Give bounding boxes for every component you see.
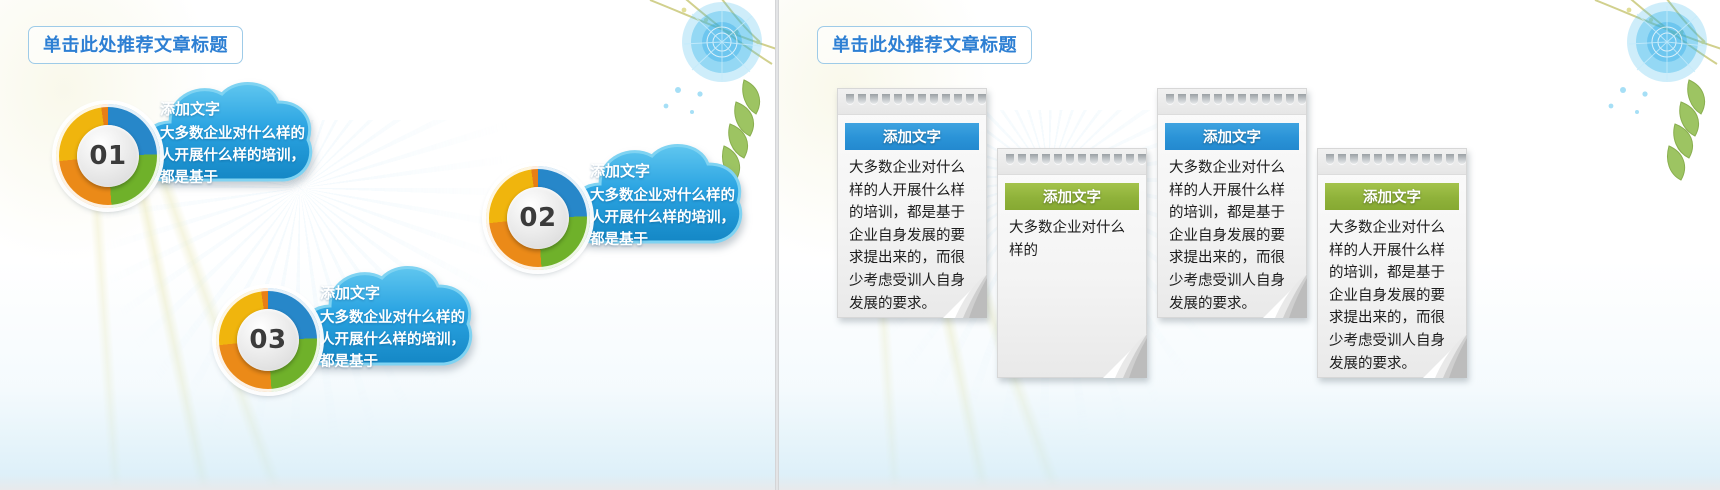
slide-notepad: 单击此处推荐文章标题 添加文字 大多数企业对什么样的人开展什么样的培训，都是基于…	[779, 0, 1720, 490]
spiral-hole-icon	[1178, 94, 1186, 105]
number-badge-03: 03	[216, 288, 320, 392]
spiral-hole-icon	[894, 94, 902, 105]
spiral-binding-4	[1318, 149, 1466, 175]
notepad-card-1[interactable]: 添加文字 大多数企业对什么样的人开展什么样的培训，都是基于企业自身发展的要求提出…	[837, 88, 987, 318]
spiral-hole-icon	[1422, 154, 1430, 165]
spiral-hole-icon	[978, 94, 986, 105]
number-badge-value-02: 02	[507, 187, 569, 249]
spiral-hole-icon	[1066, 154, 1074, 165]
spiral-hole-icon	[906, 94, 914, 105]
spiral-hole-icon	[1226, 94, 1234, 105]
spiral-hole-icon	[1214, 94, 1222, 105]
slide-cloud: 单击此处推荐文章标题 添加文字 大多数企业对什么样的人开展什	[0, 0, 775, 490]
bottom-edge-band-right	[779, 474, 1720, 490]
spiral-hole-icon	[882, 94, 890, 105]
spiral-hole-icon	[1286, 94, 1294, 105]
notepad-body-1: 大多数企业对什么样的人开展什么样的培训，都是基于企业自身发展的要求提出来的，而很…	[838, 150, 986, 325]
slide-title-notepad: 单击此处推荐文章标题	[817, 26, 1032, 64]
spiral-hole-icon	[918, 94, 926, 105]
cloud-heading-02: 添加文字	[590, 160, 740, 181]
cloud-text-01: 添加文字 大多数企业对什么样的人开展什么样的培训，都是基于	[160, 98, 310, 189]
number-badge-01: 01	[56, 104, 160, 208]
cloud-heading-01: 添加文字	[160, 98, 310, 119]
number-badge-value-03: 03	[237, 309, 299, 371]
spiral-hole-icon	[1102, 154, 1110, 165]
spiral-binding-3	[1158, 89, 1306, 115]
notepad-card-3[interactable]: 添加文字 大多数企业对什么样的人开展什么样的培训，都是基于企业自身发展的要求提出…	[1157, 88, 1307, 318]
spiral-hole-icon	[1274, 94, 1282, 105]
cloud-heading-03: 添加文字	[320, 282, 470, 303]
cloud-text-03: 添加文字 大多数企业对什么样的人开展什么样的培训，都是基于	[320, 282, 470, 373]
page-curl-icon-2	[1103, 334, 1147, 378]
spiral-hole-icon	[1326, 154, 1334, 165]
spiral-hole-icon	[1090, 154, 1098, 165]
spiral-hole-icon	[1166, 94, 1174, 105]
spiral-hole-icon	[870, 94, 878, 105]
cloud-body-03: 大多数企业对什么样的人开展什么样的培训，都是基于	[320, 307, 470, 373]
spiral-hole-icon	[1410, 154, 1418, 165]
spiral-hole-icon	[1386, 154, 1394, 165]
notepad-heading-3: 添加文字	[1165, 123, 1299, 150]
notepad-body-2: 大多数企业对什么样的	[998, 210, 1146, 272]
spiral-hole-icon	[1446, 154, 1454, 165]
spiral-hole-icon	[1190, 94, 1198, 105]
spiral-binding-1	[838, 89, 986, 115]
spiral-hole-icon	[1458, 154, 1466, 165]
spiral-hole-icon	[1398, 154, 1406, 165]
spiral-hole-icon	[1250, 94, 1258, 105]
dandelion-flower-icon-right	[1585, 0, 1720, 194]
spiral-hole-icon	[1006, 154, 1014, 165]
spiral-hole-icon	[1018, 154, 1026, 165]
spiral-hole-icon	[1202, 94, 1210, 105]
notepad-paper-2: 添加文字 大多数企业对什么样的	[997, 148, 1147, 378]
spiral-hole-icon	[1350, 154, 1358, 165]
notepad-card-4[interactable]: 添加文字 大多数企业对什么样的人开展什么样的培训，都是基于企业自身发展的要求提出…	[1317, 148, 1467, 378]
spiral-hole-icon	[1078, 154, 1086, 165]
bottom-edge-band	[0, 474, 775, 490]
spiral-hole-icon	[1126, 154, 1134, 165]
spiral-hole-icon	[1114, 154, 1122, 165]
notepad-paper-3: 添加文字 大多数企业对什么样的人开展什么样的培训，都是基于企业自身发展的要求提出…	[1157, 88, 1307, 318]
spiral-hole-icon	[1238, 94, 1246, 105]
notepad-body-4: 大多数企业对什么样的人开展什么样的培训，都是基于企业自身发展的要求提出来的，而很…	[1318, 210, 1466, 385]
spiral-hole-icon	[954, 94, 962, 105]
spiral-hole-icon	[1030, 154, 1038, 165]
notepad-paper-4: 添加文字 大多数企业对什么样的人开展什么样的培训，都是基于企业自身发展的要求提出…	[1317, 148, 1467, 378]
spiral-binding-2	[998, 149, 1146, 175]
number-badge-02: 02	[486, 166, 590, 270]
spiral-hole-icon	[1054, 154, 1062, 165]
cloud-body-01: 大多数企业对什么样的人开展什么样的培训，都是基于	[160, 123, 310, 189]
spiral-hole-icon	[1298, 94, 1306, 105]
spiral-hole-icon	[1338, 154, 1346, 165]
notepad-card-2[interactable]: 添加文字 大多数企业对什么样的	[997, 148, 1147, 378]
notepad-heading-4: 添加文字	[1325, 183, 1459, 210]
spiral-hole-icon	[1138, 154, 1146, 165]
spiral-hole-icon	[1374, 154, 1382, 165]
spiral-hole-icon	[966, 94, 974, 105]
notepad-paper-1: 添加文字 大多数企业对什么样的人开展什么样的培训，都是基于企业自身发展的要求提出…	[837, 88, 987, 318]
number-badge-value-01: 01	[77, 125, 139, 187]
spiral-hole-icon	[846, 94, 854, 105]
slide-title-cloud: 单击此处推荐文章标题	[28, 26, 243, 64]
spiral-hole-icon	[1434, 154, 1442, 165]
spiral-hole-icon	[1042, 154, 1050, 165]
spiral-hole-icon	[1262, 94, 1270, 105]
notepad-body-3: 大多数企业对什么样的人开展什么样的培训，都是基于企业自身发展的要求提出来的，而很…	[1158, 150, 1306, 325]
cloud-body-02: 大多数企业对什么样的人开展什么样的培训，都是基于	[590, 185, 740, 251]
spiral-hole-icon	[930, 94, 938, 105]
slide-pair-canvas: 单击此处推荐文章标题 添加文字 大多数企业对什么样的人开展什	[0, 0, 1720, 490]
notepad-heading-1: 添加文字	[845, 123, 979, 150]
cloud-text-02: 添加文字 大多数企业对什么样的人开展什么样的培训，都是基于	[590, 160, 740, 251]
notepad-heading-2: 添加文字	[1005, 183, 1139, 210]
spiral-hole-icon	[858, 94, 866, 105]
spiral-hole-icon	[1362, 154, 1370, 165]
spiral-hole-icon	[942, 94, 950, 105]
